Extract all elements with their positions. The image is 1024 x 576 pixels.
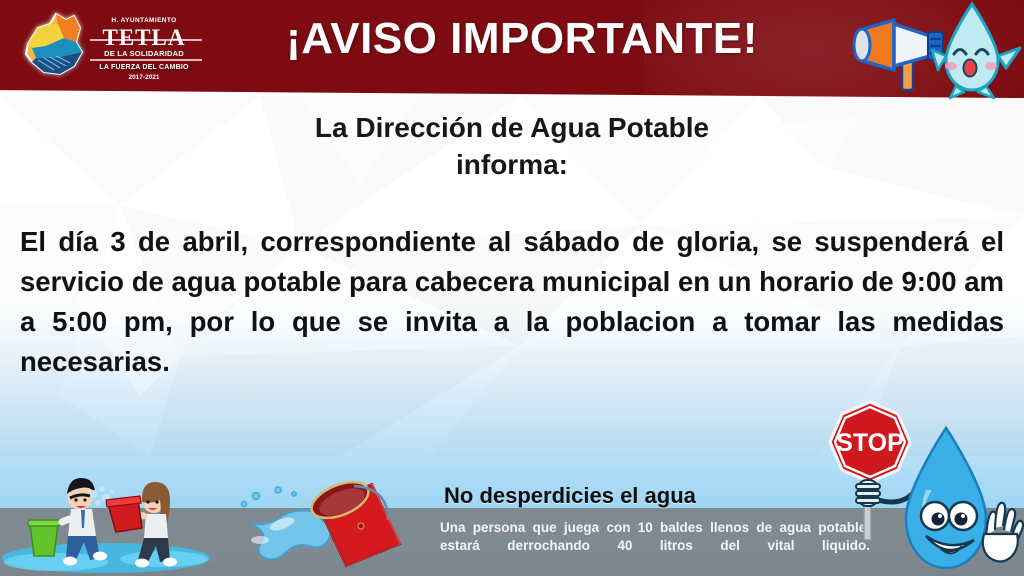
department-line-1: La Dirección de Agua Potable [0, 110, 1024, 147]
municipal-logo-text: H. AYUNTAMIENTO TETLA DE LA SOLIDARIDAD … [88, 18, 200, 80]
water-drop-holding-stop-sign-illustration: STOP [818, 392, 1024, 576]
red-bucket-spilling-water-illustration [222, 468, 432, 576]
stop-sign-label: STOP [836, 429, 904, 457]
aviso-poster: H. AYUNTAMIENTO TETLA DE LA SOLIDARIDAD … [0, 0, 1024, 576]
logo-line-fuerza: LA FUERZA DEL CAMBIO [96, 64, 191, 71]
conservation-fineprint: Una persona que juega con 10 baldes llen… [440, 519, 870, 572]
department-line-2: informa: [0, 147, 1024, 184]
page-title: ¡AVISO IMPORTANTE! [222, 14, 822, 64]
department-heading: La Dirección de Agua Potable informa: [0, 110, 1024, 184]
logo-line-ayuntamiento: H. AYUNTAMIENTO [88, 18, 200, 25]
logo-line-tetla: TETLA [88, 26, 200, 49]
conservation-slogan: No desperdicies el agua [444, 483, 696, 509]
municipal-logo: H. AYUNTAMIENTO TETLA DE LA SOLIDARIDAD … [16, 8, 206, 90]
logo-line-solidaridad: DE LA SOLIDARIDAD [88, 50, 200, 58]
logo-line-years: 2017-2021 [88, 75, 200, 82]
water-drop-with-megaphone-icon [846, 0, 1024, 100]
children-playing-with-buckets-illustration [0, 462, 228, 576]
